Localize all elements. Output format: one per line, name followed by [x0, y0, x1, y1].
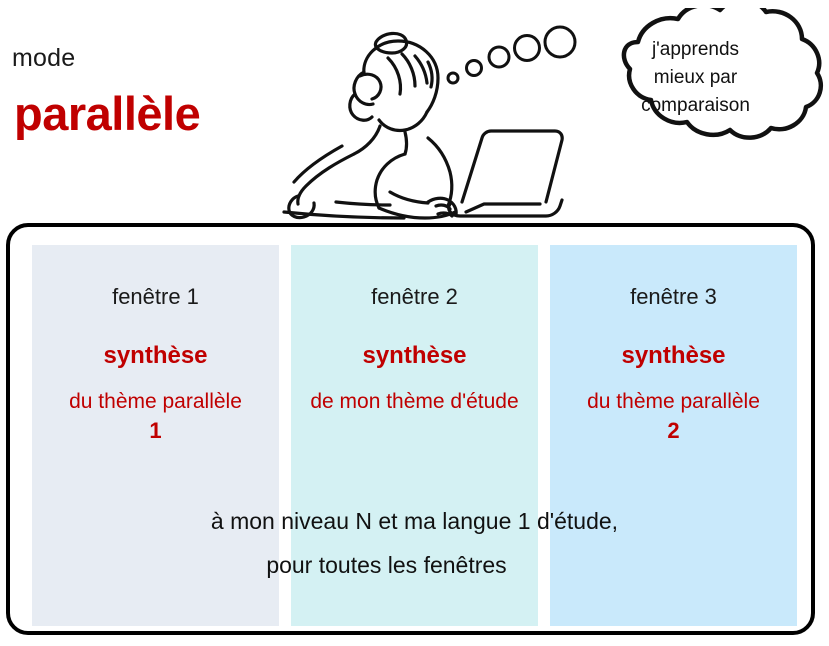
panel-description-text: du thème parallèle — [587, 390, 760, 413]
windows-frame: fenêtre 1 synthèse du thème parallèle 1 … — [6, 223, 815, 635]
panel-description: du thème parallèle 2 — [550, 387, 797, 445]
panel-synthese-label: synthèse — [291, 341, 538, 371]
window-panel-3[interactable]: fenêtre 3 synthèse du thème parallèle 2 — [550, 245, 797, 626]
panel-synthese-label: synthèse — [550, 341, 797, 371]
panel-title: fenêtre 3 — [550, 283, 797, 311]
panel-synthese-label: synthèse — [32, 341, 279, 371]
window-panel-1[interactable]: fenêtre 1 synthèse du thème parallèle 1 — [32, 245, 279, 626]
panel-description-text: de mon thème d'étude — [310, 390, 518, 413]
thought-cloud-text: j'apprends mieux par comparaison — [588, 36, 803, 120]
panel-description: du thème parallèle 1 — [32, 387, 279, 445]
window-panel-2[interactable]: fenêtre 2 synthèse de mon thème d'étude — [291, 245, 538, 626]
panel-description: de mon thème d'étude — [291, 387, 538, 416]
thought-line-1: j'apprends — [588, 36, 803, 64]
panel-number: 1 — [36, 416, 275, 445]
panel-title: fenêtre 2 — [291, 283, 538, 311]
mode-label: mode — [12, 44, 75, 73]
panels-row: fenêtre 1 synthèse du thème parallèle 1 … — [32, 245, 797, 626]
header-area: mode parallèle — [0, 0, 829, 222]
panel-description-text: du thème parallèle — [69, 390, 242, 413]
thought-line-3: comparaison — [588, 92, 803, 120]
panel-number: 2 — [554, 416, 793, 445]
thought-line-2: mieux par — [588, 64, 803, 92]
panel-title: fenêtre 1 — [32, 283, 279, 311]
mode-title: parallèle — [14, 86, 200, 141]
